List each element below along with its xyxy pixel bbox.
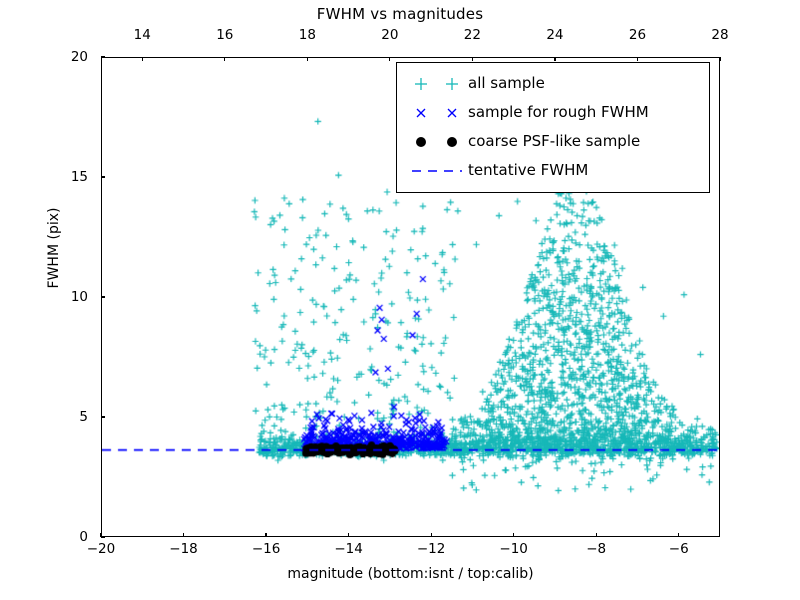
x-tick-label-bottom: −6 bbox=[669, 541, 689, 557]
x-tick-mark-bottom bbox=[265, 533, 266, 537]
cross-marker-icon bbox=[406, 102, 468, 124]
figure-canvas: FWHM vs magnitudes −20−18−16−14−12−10−8−… bbox=[0, 0, 800, 600]
legend-item-label: all sample bbox=[468, 76, 545, 91]
y-tick-mark bbox=[101, 296, 105, 297]
y-tick-label: 10 bbox=[71, 289, 88, 305]
x-tick-mark-top bbox=[637, 57, 638, 61]
x-tick-label-bottom: −8 bbox=[586, 541, 606, 557]
x-tick-label-top: 22 bbox=[464, 27, 481, 43]
x-tick-label-top: 18 bbox=[299, 27, 316, 43]
x-tick-label-top: 20 bbox=[381, 27, 398, 43]
x-tick-label-top: 14 bbox=[134, 27, 151, 43]
x-tick-mark-top bbox=[389, 57, 390, 61]
x-tick-mark-top bbox=[554, 57, 555, 61]
y-tick-label: 20 bbox=[71, 49, 88, 65]
legend-box: all sample sample for rough FWHMcoarse P… bbox=[396, 62, 710, 193]
y-tick-mark bbox=[101, 56, 105, 57]
y-tick-label: 0 bbox=[79, 529, 88, 545]
x-tick-mark-top bbox=[472, 57, 473, 61]
x-tick-mark-top bbox=[224, 57, 225, 61]
y-axis-label: FWHM (pix) bbox=[46, 148, 62, 348]
x-tick-label-bottom: −10 bbox=[499, 541, 528, 557]
x-axis-label: magnitude (bottom:isnt / top:calib) bbox=[101, 566, 720, 582]
x-tick-mark-bottom bbox=[183, 533, 184, 537]
x-tick-mark-bottom bbox=[513, 533, 514, 537]
y-tick-mark bbox=[101, 176, 105, 177]
dashed-line-icon bbox=[406, 160, 468, 182]
dot-marker-icon bbox=[406, 131, 468, 153]
legend-item[interactable]: sample for rough FWHM bbox=[406, 98, 700, 127]
x-tick-label-top: 16 bbox=[216, 27, 233, 43]
x-tick-label-top: 26 bbox=[629, 27, 646, 43]
x-tick-mark-bottom bbox=[596, 533, 597, 537]
x-tick-label-top: 28 bbox=[711, 27, 728, 43]
y-tick-mark bbox=[101, 536, 105, 537]
x-tick-mark-top bbox=[719, 57, 720, 61]
x-tick-mark-bottom bbox=[431, 533, 432, 537]
page-title: FWHM vs magnitudes bbox=[0, 5, 800, 23]
legend-item[interactable]: all sample bbox=[406, 69, 700, 98]
x-tick-label-bottom: −20 bbox=[87, 541, 116, 557]
legend-item-label: coarse PSF-like sample bbox=[468, 134, 640, 149]
x-tick-mark-top bbox=[307, 57, 308, 61]
y-tick-mark bbox=[101, 416, 105, 417]
x-tick-label-bottom: −18 bbox=[169, 541, 198, 557]
x-tick-label-bottom: −14 bbox=[334, 541, 363, 557]
x-tick-mark-bottom bbox=[678, 533, 679, 537]
x-tick-label-bottom: −12 bbox=[417, 541, 446, 557]
legend-item[interactable]: tentative FWHM bbox=[406, 156, 700, 185]
x-tick-label-bottom: −16 bbox=[252, 541, 281, 557]
plus-marker-icon bbox=[406, 73, 468, 95]
x-tick-mark-top bbox=[142, 57, 143, 61]
legend-item[interactable]: coarse PSF-like sample bbox=[406, 127, 700, 156]
x-tick-mark-bottom bbox=[348, 533, 349, 537]
legend-item-label: sample for rough FWHM bbox=[468, 105, 649, 120]
y-tick-label: 5 bbox=[79, 409, 88, 425]
legend-item-label: tentative FWHM bbox=[468, 163, 588, 178]
y-tick-label: 15 bbox=[71, 169, 88, 185]
x-tick-label-top: 24 bbox=[546, 27, 563, 43]
